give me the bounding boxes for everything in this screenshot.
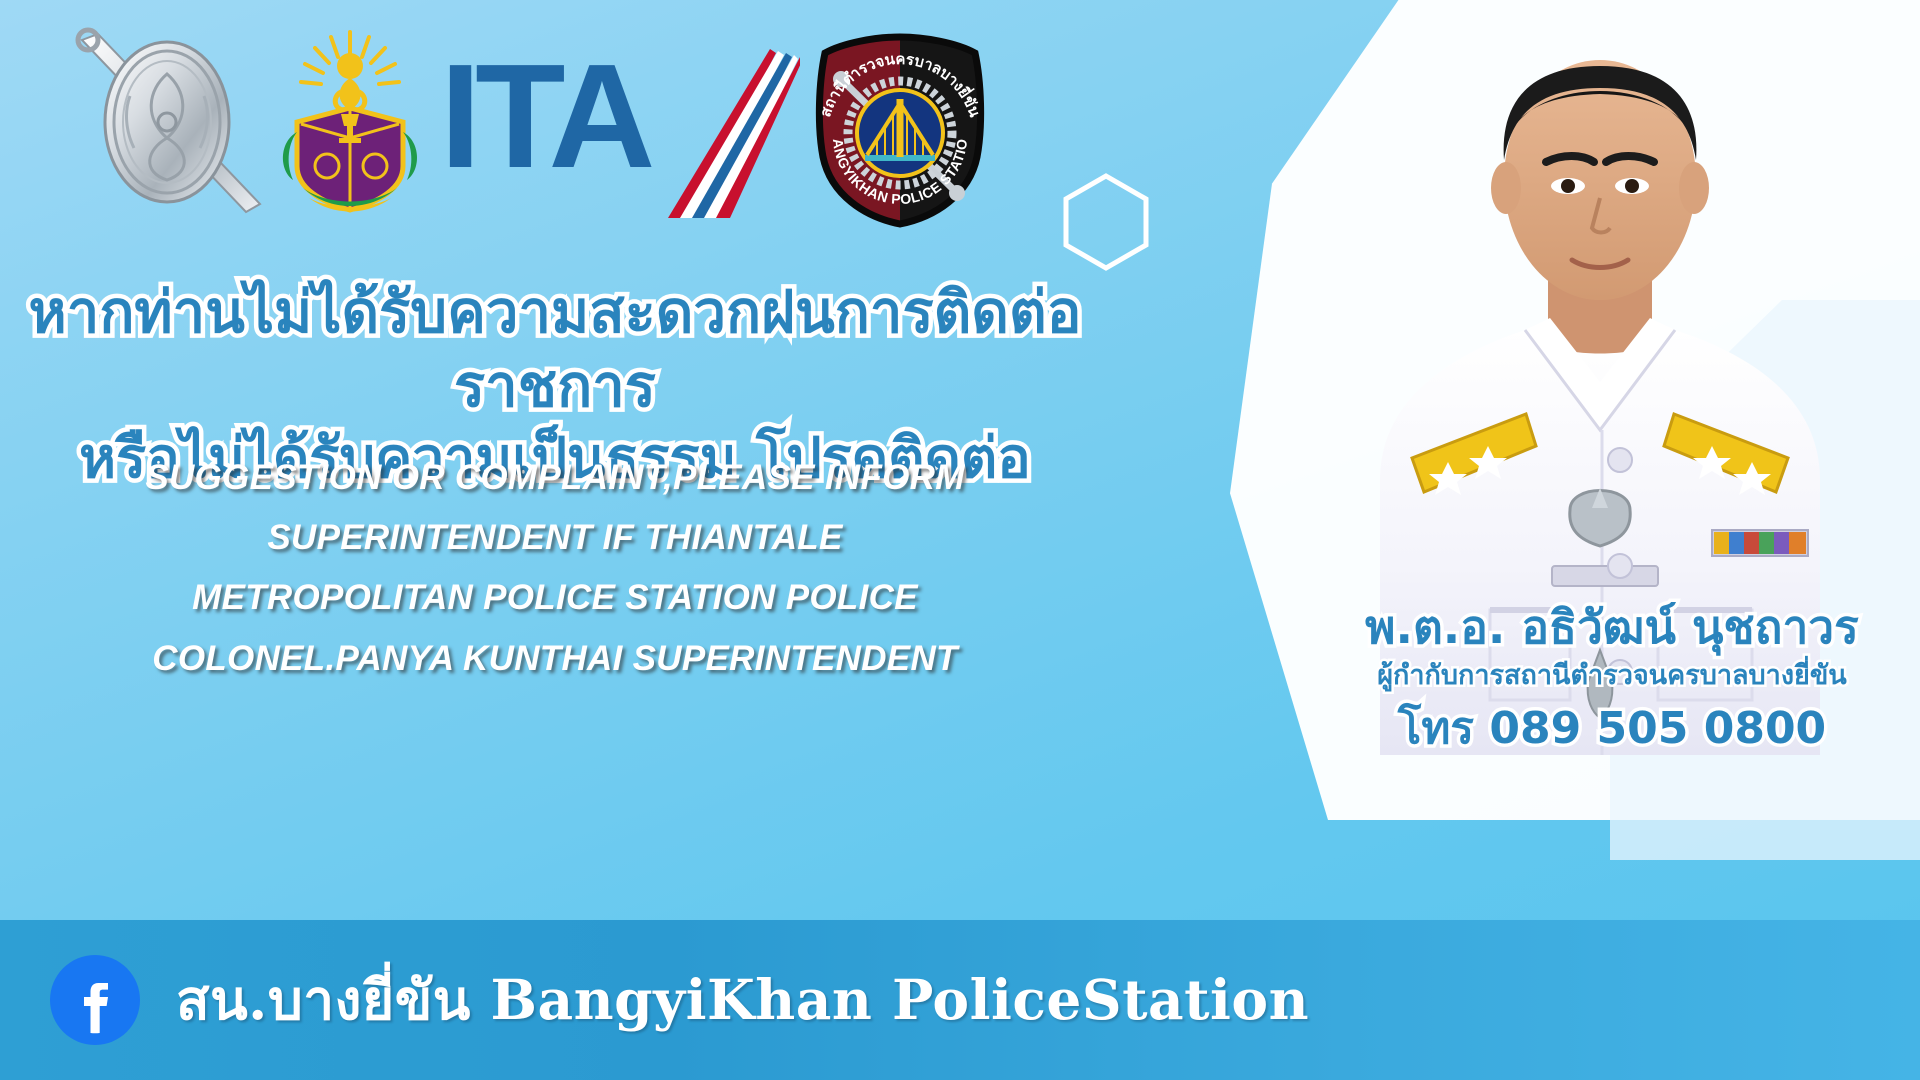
english-line-2: SUPERINTENDENT IF THIANTALE [0,508,1110,568]
english-line-4: COLONEL.PANYA KUNTHAI SUPERINTENDENT [0,629,1110,689]
ita-police-banner: ITA [0,0,1920,1080]
officer-info-block: พ.ต.อ. อธิวัฒน์ นุชถาวร ผู้กำกับการสถานี… [1332,600,1892,756]
english-message-block: SUGGESTION OR COMPLAINT,PLEASE INFORM SU… [0,448,1110,689]
royal-thai-police-crest-icon [275,30,425,215]
english-line-3: METROPOLITAN POLICE STATION POLICE [0,568,1110,628]
footer-bar: สน.บางยี่ขัน BangyiKhan PoliceStation [0,920,1920,1080]
ita-logo: ITA [440,43,800,218]
footer-station-name: สน.บางยี่ขัน BangyiKhan PoliceStation [176,957,1309,1044]
officer-title: ผู้กำกับการสถานีตำรวจนครบาลบางยี่ขัน [1332,656,1892,697]
officer-phone-number: โทร 089 505 0800 [1332,701,1892,756]
thai-ceremonial-silver-emblem-icon [60,26,275,216]
bangyikhan-police-badge-icon: สถานีตำรวจนครบาลบางยี่ขัน BANGYIKHAN POL… [805,33,995,228]
officer-name: พ.ต.อ. อธิวัฒน์ นุชถาวร [1332,600,1892,654]
english-line-1: SUGGESTION OR COMPLAINT,PLEASE INFORM [0,448,1110,508]
thai-heading-line-1: หากท่านไม่ได้รับความสะดวกฝนการติดต่อราชก… [0,275,1110,423]
logo-row: ITA [0,8,1200,228]
facebook-icon[interactable] [48,953,142,1047]
